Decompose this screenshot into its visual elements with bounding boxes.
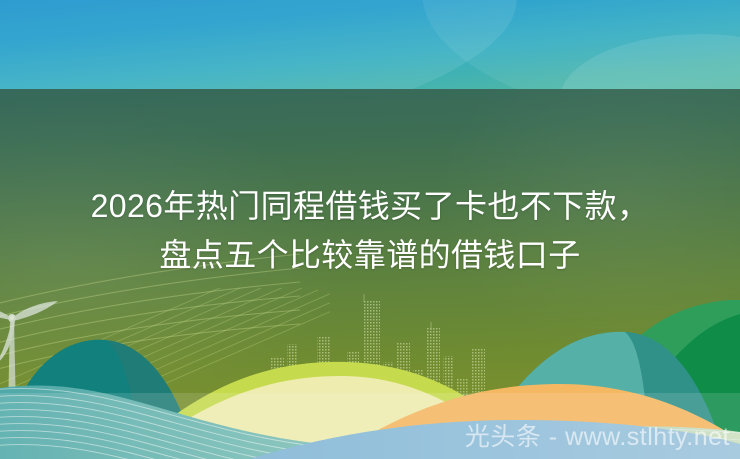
page-title-line-1: 2026年热门同程借钱买了卡也不下款， xyxy=(0,182,740,231)
site-watermark: 光头条 - www.stlhty.net xyxy=(465,417,730,453)
article-cover-banner: 2026年热门同程借钱买了卡也不下款， 盘点五个比较靠谱的借钱口子 光头条 - … xyxy=(0,0,740,459)
page-title-line-2: 盘点五个比较靠谱的借钱口子 xyxy=(0,231,740,280)
page-title: 2026年热门同程借钱买了卡也不下款， 盘点五个比较靠谱的借钱口子 xyxy=(0,182,740,280)
